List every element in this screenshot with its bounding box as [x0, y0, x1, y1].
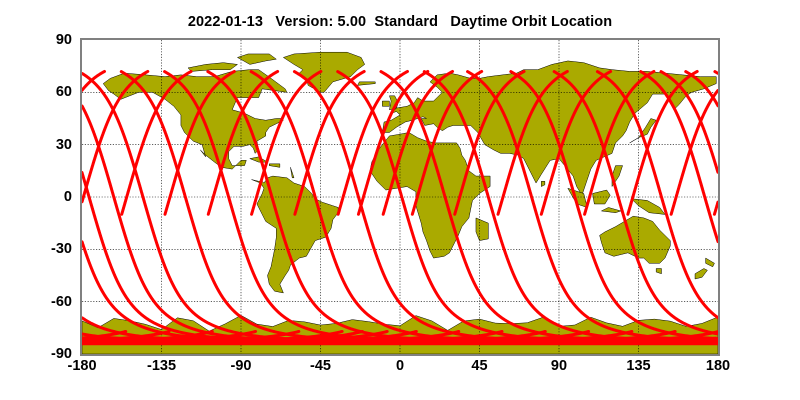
plot-svg: [82, 40, 718, 354]
landmass: [656, 269, 661, 274]
x-tick-label: -45: [281, 358, 361, 374]
landmass: [382, 101, 389, 106]
landmass: [237, 54, 276, 64]
landmass: [631, 199, 665, 215]
landmass: [290, 167, 294, 177]
x-tick-label: 90: [519, 358, 599, 374]
x-tick-label: -135: [122, 358, 202, 374]
y-tick-label: 30: [12, 137, 72, 153]
landmass: [541, 181, 545, 186]
y-tick-label: -60: [12, 294, 72, 310]
x-tick-label: -90: [201, 358, 281, 374]
x-tick-label: 0: [360, 358, 440, 374]
landmass: [695, 269, 707, 279]
x-tick-label: -180: [42, 358, 122, 374]
landmass: [601, 207, 620, 212]
page-title: 2022-01-13 Version: 5.00 Standard Daytim…: [0, 14, 800, 30]
x-tick-label: 135: [599, 358, 679, 374]
landmass: [250, 157, 268, 162]
y-tick-label: 60: [12, 84, 72, 100]
landmass: [358, 82, 376, 85]
plot-area: [80, 38, 720, 356]
orbit-location-chart: 2022-01-13 Version: 5.00 Standard Daytim…: [0, 0, 800, 400]
x-tick-label: 45: [440, 358, 520, 374]
x-tick-label: 180: [678, 358, 758, 374]
landmass: [476, 218, 488, 241]
y-tick-label: 90: [12, 32, 72, 48]
orbit-track: [714, 202, 717, 214]
landmass: [706, 258, 715, 267]
y-tick-label: -30: [12, 241, 72, 257]
landmass: [269, 164, 280, 167]
orbit-track: [82, 74, 416, 340]
orbit-track: [715, 72, 718, 74]
y-tick-label: 0: [12, 189, 72, 205]
landmass: [188, 63, 237, 72]
